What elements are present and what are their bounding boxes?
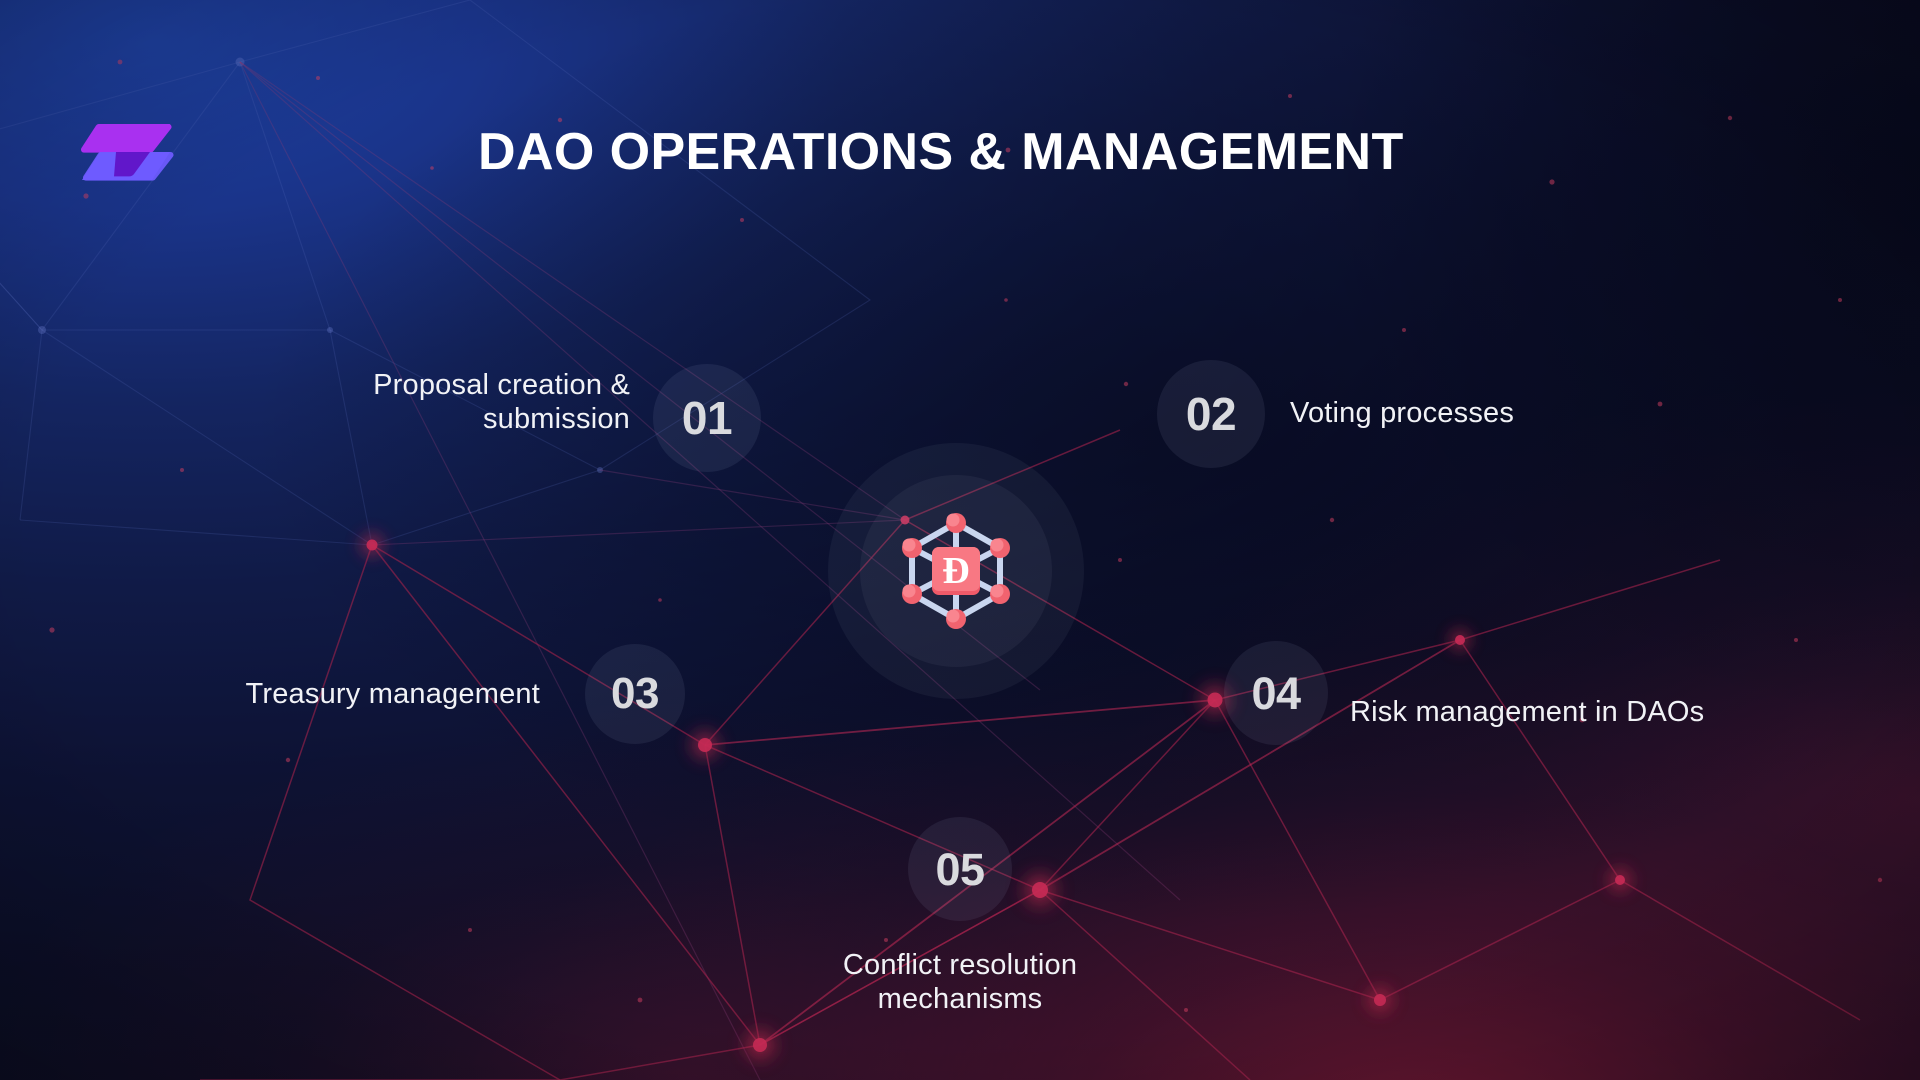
dao-network-hexagon-icon: Ð xyxy=(888,503,1024,639)
step-number-01: 01 xyxy=(682,395,732,441)
step-label-03: Treasury management xyxy=(140,677,540,711)
step-number-badge-05[interactable]: 05 xyxy=(908,817,1012,921)
page-title: DAO OPERATIONS & MANAGEMENT xyxy=(478,124,1458,181)
step-number-05: 05 xyxy=(935,847,984,892)
step-label-04: Risk management in DAOs xyxy=(1350,695,1810,729)
step-number-04: 04 xyxy=(1251,671,1300,716)
step-label-05: Conflict resolution mechanisms xyxy=(740,948,1180,1016)
step-number-badge-01[interactable]: 01 xyxy=(653,364,761,472)
brand-logo-chevron-icon xyxy=(78,118,196,190)
slide-canvas: DAO OPERATIONS & MANAGEMENT Ð xyxy=(0,0,1920,1080)
step-number-02: 02 xyxy=(1186,391,1236,437)
dao-token-symbol: Ð xyxy=(942,550,969,592)
step-label-01: Proposal creation & submission xyxy=(250,368,630,436)
step-number-badge-03[interactable]: 03 xyxy=(585,644,685,744)
center-hub: Ð xyxy=(828,443,1084,699)
step-number-03: 03 xyxy=(611,672,659,716)
step-label-02: Voting processes xyxy=(1290,396,1710,430)
step-number-badge-02[interactable]: 02 xyxy=(1157,360,1265,468)
step-number-badge-04[interactable]: 04 xyxy=(1224,641,1328,745)
